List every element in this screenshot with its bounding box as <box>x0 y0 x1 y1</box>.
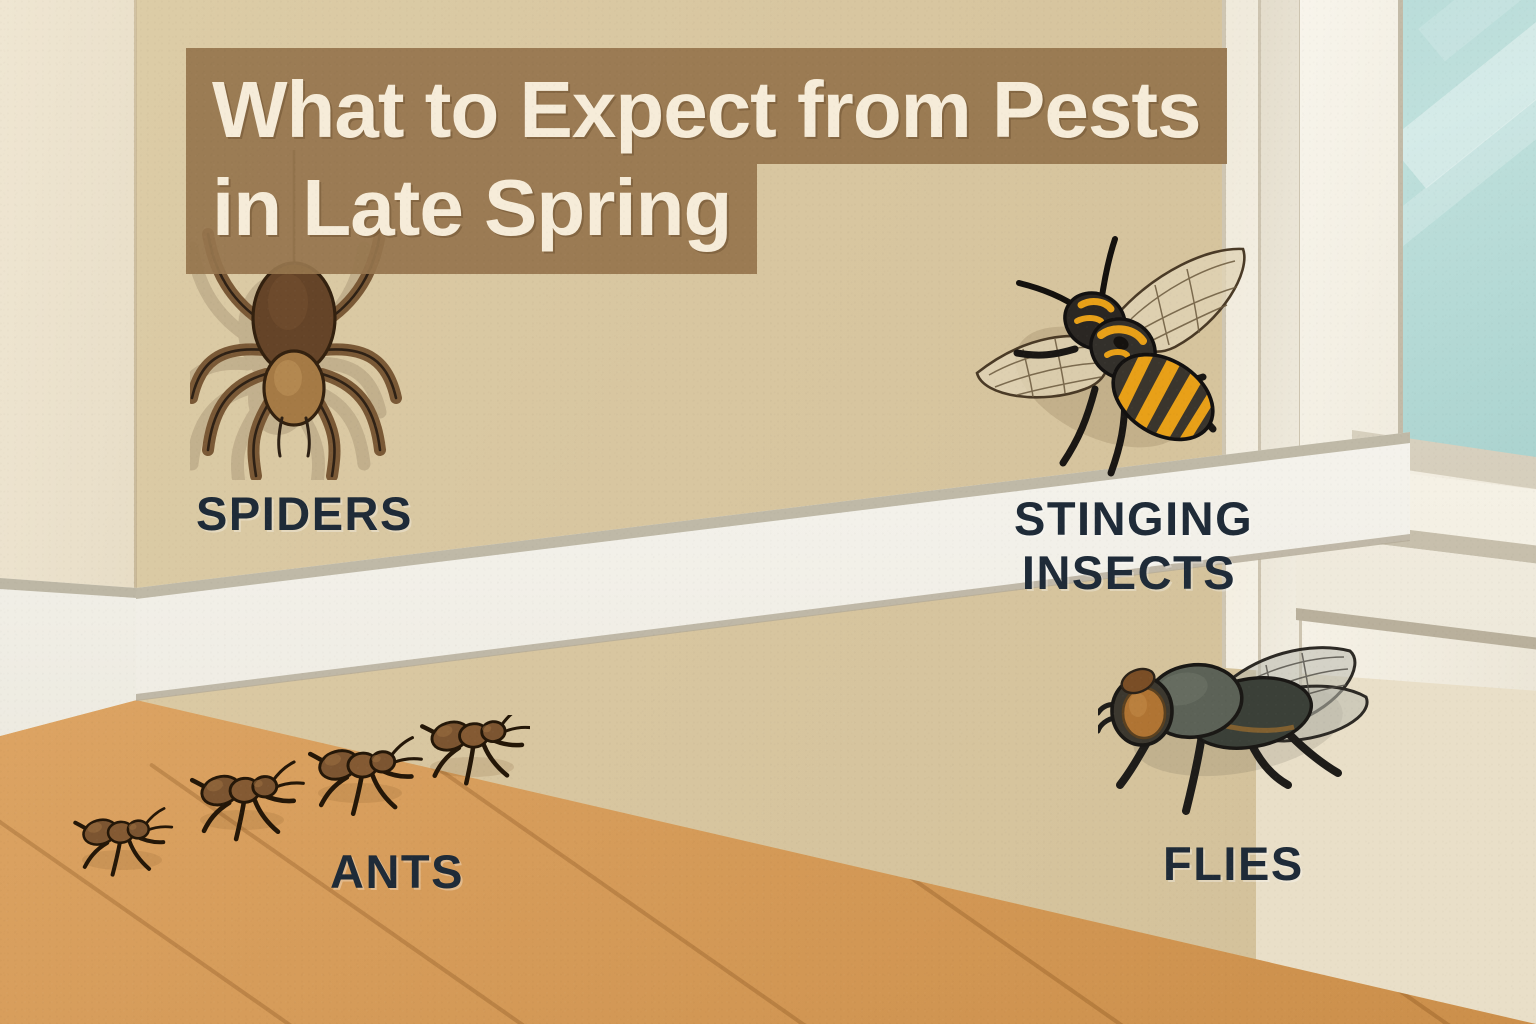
label-flies: FLIES <box>1163 837 1304 891</box>
window-glass-pane <box>1398 0 1536 478</box>
title-line2-box: in Late Spring <box>186 164 757 274</box>
label-ants: ANTS <box>330 845 464 899</box>
wall-corner-seam <box>134 0 137 660</box>
title-banner: What to Expect from Pests in Late Spring <box>186 48 1366 274</box>
ant-3 <box>310 737 425 816</box>
title-line1: What to Expect from Pests <box>212 70 1201 150</box>
label-spiders: SPIDERS <box>196 487 413 541</box>
title-banner-row-1: What to Expect from Pests <box>186 48 1366 164</box>
fly-illustration <box>1098 635 1378 840</box>
label-stinging-insects: STINGING INSECTS <box>1014 492 1244 599</box>
title-line2: in Late Spring <box>212 168 731 248</box>
title-line1-box: What to Expect from Pests <box>186 48 1227 164</box>
ant-2 <box>191 761 307 842</box>
poster-scene: What to Expect from Pests in Late Spring… <box>0 0 1536 1024</box>
title-banner-row-2: in Late Spring <box>186 164 1366 274</box>
